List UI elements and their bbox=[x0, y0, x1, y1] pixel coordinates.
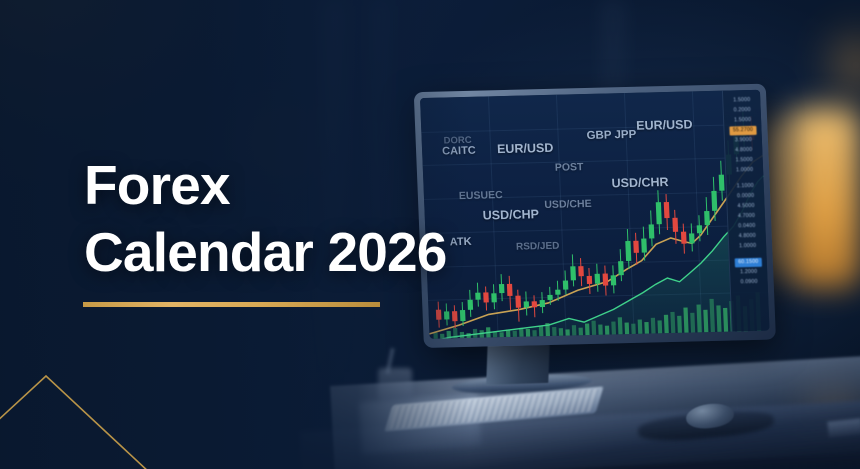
candle-body bbox=[664, 202, 670, 218]
price-axis-tick: 1.5000 bbox=[733, 96, 750, 105]
price-axis-tick: 0.0900 bbox=[740, 278, 757, 287]
candle-body bbox=[483, 292, 489, 302]
headline-line-1: Forex bbox=[84, 152, 447, 219]
volume-bar bbox=[651, 318, 656, 336]
candle-body bbox=[555, 290, 560, 295]
price-axis-tick: 4.7000 bbox=[738, 212, 755, 221]
volume-bar bbox=[618, 317, 623, 336]
candle-body bbox=[618, 261, 624, 275]
monitor-screen: DORCCAITCEUR/USDPOSTGBP JPPEUR/USDEUSUEC… bbox=[420, 90, 770, 339]
candle-body bbox=[719, 175, 725, 191]
volume-bar bbox=[480, 330, 485, 339]
candle-body bbox=[563, 280, 569, 289]
candle-body bbox=[611, 275, 617, 285]
candle-body bbox=[625, 241, 631, 261]
price-axis-tick: 1.5000 bbox=[734, 116, 751, 125]
candle-body bbox=[595, 274, 601, 284]
volume-bar bbox=[664, 315, 669, 335]
volume-bar bbox=[677, 316, 682, 335]
candle-body bbox=[681, 232, 687, 244]
forex-calendar-banner: DORCCAITCEUR/USDPOSTGBP JPPEUR/USDEUSUEC… bbox=[0, 0, 860, 469]
page-title: Forex Calendar 2026 bbox=[84, 152, 447, 286]
bokeh-light bbox=[770, 120, 788, 275]
candle-body bbox=[649, 224, 655, 238]
price-axis-tick: 55.2700 bbox=[730, 126, 757, 136]
candle-body bbox=[633, 241, 639, 253]
candle-body bbox=[491, 293, 497, 302]
volume-bar bbox=[657, 320, 662, 335]
price-axis-tick: 60.1500 bbox=[735, 258, 762, 268]
candle-body bbox=[697, 225, 703, 233]
volume-bar bbox=[611, 321, 616, 336]
price-axis-tick: 1.2000 bbox=[740, 268, 757, 277]
bokeh-light bbox=[836, 38, 860, 92]
volume-bar bbox=[638, 319, 643, 335]
price-axis-tick: 1.0000 bbox=[736, 166, 753, 175]
price-axis-tick: 4.8000 bbox=[735, 146, 752, 155]
candle-body bbox=[603, 273, 609, 285]
price-axis-tick: 0.2000 bbox=[734, 106, 751, 115]
candle-body bbox=[689, 233, 695, 243]
price-axis-tick: 0.0400 bbox=[738, 222, 755, 231]
candle-body bbox=[499, 284, 505, 293]
candle-body bbox=[547, 295, 552, 300]
candle-body bbox=[641, 239, 647, 253]
headline-line-2: Calendar 2026 bbox=[84, 219, 447, 286]
candle-body bbox=[475, 293, 480, 300]
candle-body bbox=[524, 301, 529, 307]
trading-chart[interactable]: DORCCAITCEUR/USDPOSTGBP JPPEUR/USDEUSUEC… bbox=[420, 90, 770, 339]
desk-device bbox=[827, 418, 860, 437]
gold-chevron-accent bbox=[0, 340, 220, 469]
candle-body bbox=[507, 284, 513, 296]
price-axis-tick: 1.0000 bbox=[739, 242, 756, 251]
candle-body bbox=[570, 266, 576, 280]
candle-body bbox=[515, 296, 521, 308]
candle-body bbox=[540, 300, 545, 307]
candle-body bbox=[711, 191, 717, 211]
price-axis-tick: 1.1000 bbox=[737, 182, 754, 191]
price-axis-tick: 3.9000 bbox=[735, 136, 752, 145]
price-axis-tick: 4.5000 bbox=[737, 202, 754, 211]
candle-body bbox=[656, 202, 662, 224]
candle-body bbox=[532, 301, 537, 307]
volume-bar bbox=[690, 313, 695, 335]
candlestick-chart-svg bbox=[420, 90, 770, 339]
price-axis-tick: 0.0000 bbox=[737, 192, 754, 201]
candle-body bbox=[672, 218, 678, 232]
candle-body bbox=[578, 266, 584, 276]
candle-body bbox=[704, 211, 710, 225]
gold-underline-rule bbox=[83, 302, 380, 307]
price-axis-tick: 4.8000 bbox=[739, 232, 756, 241]
volume-bar bbox=[591, 321, 596, 337]
bokeh-light bbox=[790, 108, 860, 288]
candle-body bbox=[587, 276, 593, 284]
price-axis-tick: 1.5000 bbox=[736, 156, 753, 165]
